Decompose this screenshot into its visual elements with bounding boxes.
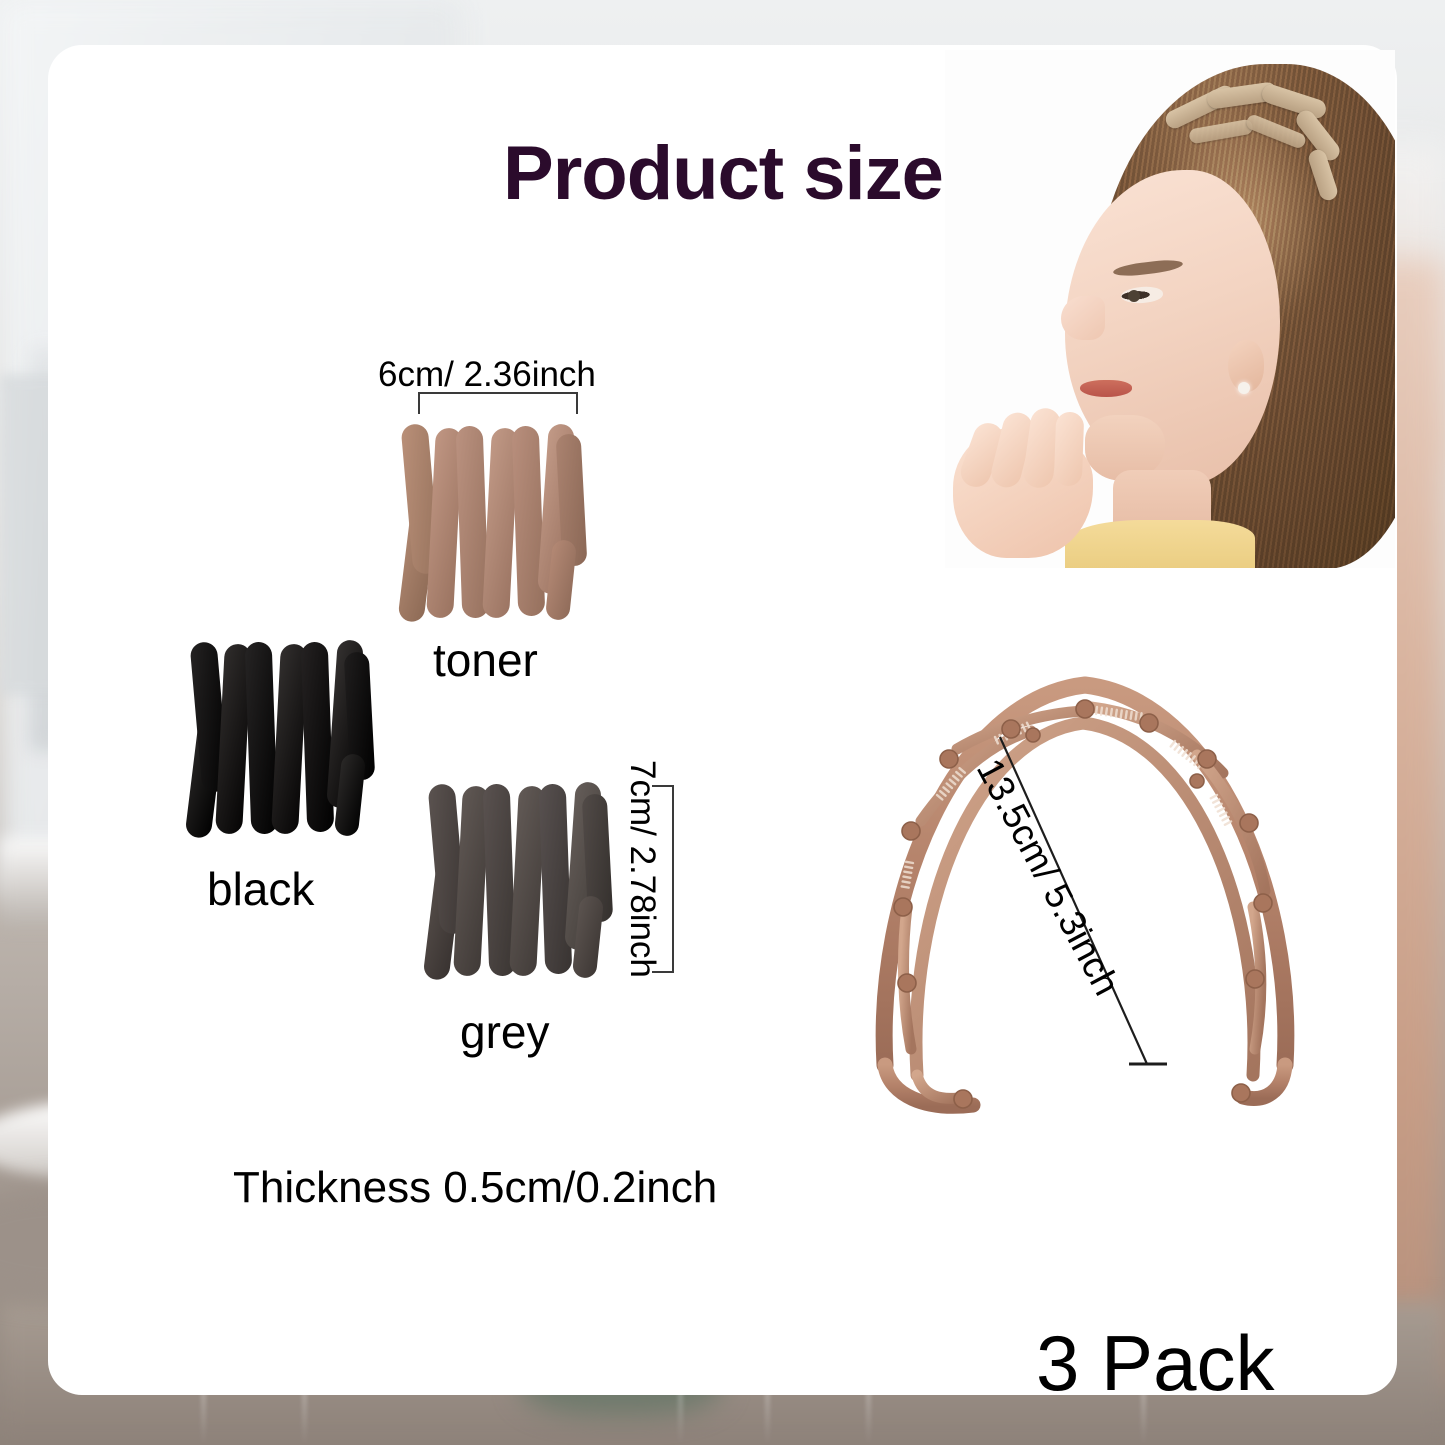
width-bracket [418, 392, 578, 414]
worn-headband [1163, 84, 1333, 204]
headband-illustration [845, 645, 1320, 1115]
width-dimension-label: 6cm/ 2.36inch [378, 355, 596, 395]
model-photo [945, 50, 1395, 568]
hero-headband-image [845, 645, 1320, 1115]
variant-label-grey: grey [460, 1005, 549, 1059]
page-title: Product size [503, 130, 943, 217]
variant-label-black: black [207, 862, 314, 916]
variant-toner-image [403, 420, 588, 625]
variant-grey-image [430, 778, 615, 983]
variant-black-image [192, 636, 377, 841]
variant-label-toner: toner [433, 633, 538, 687]
height-dimension-label: 7cm/ 2.78inch [622, 760, 662, 978]
product-infographic: Product size 6cm/ 2. [0, 0, 1445, 1445]
thickness-note: Thickness 0.5cm/0.2inch [233, 1163, 717, 1213]
pack-count-badge: 3 Pack [1036, 1318, 1274, 1409]
